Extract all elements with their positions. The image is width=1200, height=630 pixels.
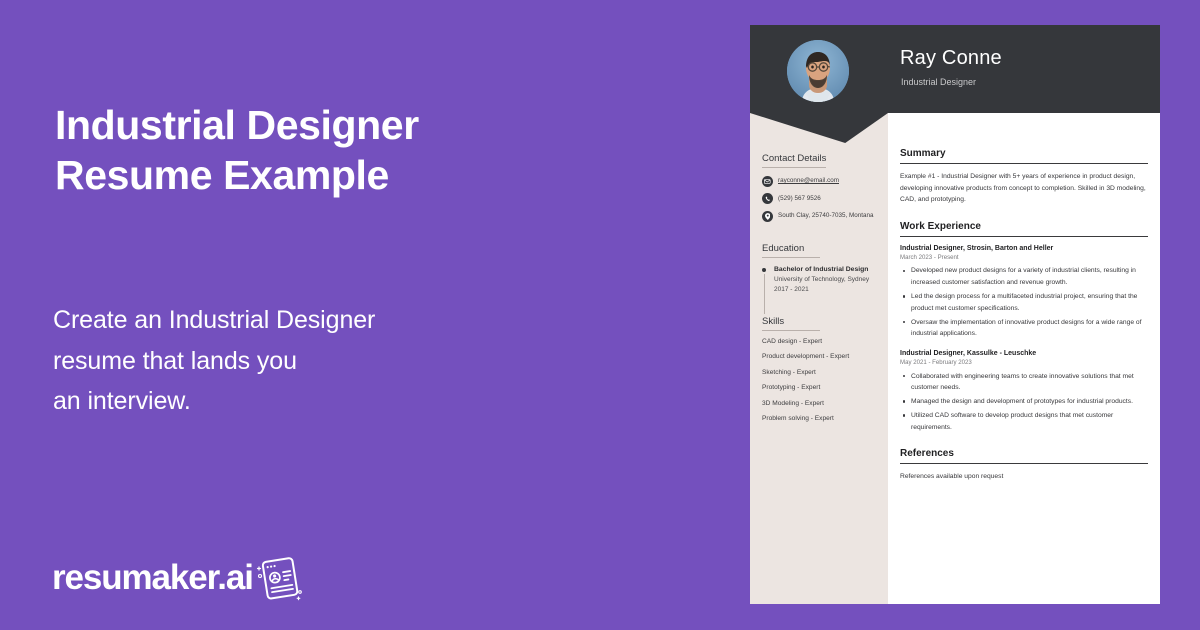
- references-section: References References available upon req…: [900, 448, 1148, 482]
- contact-item-phone: (529) 567 9526: [762, 193, 880, 205]
- job-dates: March 2023 - Present: [900, 253, 1148, 262]
- logo-wordmark: resumaker.ai: [52, 560, 253, 595]
- resume-main-column: Summary Example #1 - Industrial Designer…: [900, 148, 1148, 497]
- envelope-icon: [762, 176, 773, 187]
- resume-document-icon: [251, 550, 307, 606]
- headline-line-1: Industrial Designer: [55, 100, 675, 150]
- education-heading: Education: [762, 243, 820, 258]
- resume-sidebar: Contact Details rayconne@email.com (529)…: [762, 148, 880, 438]
- page-title: Industrial Designer Resume Example: [55, 100, 675, 200]
- contact-address-text: South Clay, 25740-7035, Montana: [778, 210, 873, 221]
- promo-subtitle: Create an Industrial Designer resume tha…: [53, 300, 673, 422]
- job-bullet: Utilized CAD software to develop product…: [900, 410, 1148, 433]
- skill-item: Product development - Expert: [762, 353, 880, 360]
- resumaker-logo[interactable]: resumaker.ai: [52, 548, 307, 606]
- work-experience-entry: Industrial Designer, Strosin, Barton and…: [900, 244, 1148, 340]
- location-pin-icon: [762, 211, 773, 222]
- contact-details-heading: Contact Details: [762, 153, 826, 168]
- promo-panel: Industrial Designer Resume Example Creat…: [0, 0, 750, 630]
- subtitle-line-2: resume that lands you: [53, 341, 673, 382]
- skill-item: Prototyping - Expert: [762, 384, 880, 391]
- education-school: University of Technology, Sydney: [774, 275, 880, 285]
- education-bullet-dot: [762, 268, 766, 272]
- skill-item: CAD design - Expert: [762, 338, 880, 345]
- job-title: Industrial Designer, Kassulke - Leuschke: [900, 349, 1148, 359]
- resume-name: Ray Conne: [900, 47, 1002, 70]
- summary-heading: Summary: [900, 148, 1148, 164]
- resume-preview-card[interactable]: Ray Conne Industrial Designer Contact De…: [750, 25, 1160, 604]
- avatar: [787, 40, 849, 102]
- subtitle-line-1: Create an Industrial Designer: [53, 300, 673, 341]
- job-bullet: Collaborated with engineering teams to c…: [900, 371, 1148, 394]
- job-bullet-list: Developed new product designs for a vari…: [900, 265, 1148, 339]
- contact-email-text[interactable]: rayconne@email.com: [778, 175, 839, 186]
- skill-item: Sketching - Expert: [762, 369, 880, 376]
- contact-phone-text: (529) 567 9526: [778, 193, 821, 204]
- job-bullet-list: Collaborated with engineering teams to c…: [900, 371, 1148, 434]
- work-experience-heading: Work Experience: [900, 221, 1148, 237]
- education-section: Education Bachelor of Industrial Design …: [762, 238, 880, 295]
- job-bullet: Led the design process for a multifacete…: [900, 291, 1148, 314]
- job-bullet: Oversaw the implementation of innovative…: [900, 317, 1148, 340]
- contact-item-email[interactable]: rayconne@email.com: [762, 175, 880, 187]
- skill-item: 3D Modeling - Expert: [762, 400, 880, 407]
- phone-icon: [762, 193, 773, 204]
- references-heading: References: [900, 448, 1148, 464]
- skills-section: Skills CAD design - Expert Product devel…: [762, 311, 880, 423]
- subtitle-line-3: an interview.: [53, 381, 673, 422]
- resume-job-title: Industrial Designer: [901, 77, 976, 87]
- skills-heading: Skills: [762, 316, 820, 331]
- work-experience-section: Work Experience Industrial Designer, Str…: [900, 221, 1148, 434]
- headline-line-2: Resume Example: [55, 150, 675, 200]
- work-experience-entry: Industrial Designer, Kassulke - Leuschke…: [900, 349, 1148, 434]
- job-dates: May 2021 - February 2023: [900, 358, 1148, 367]
- job-bullet: Developed new product designs for a vari…: [900, 265, 1148, 288]
- education-degree: Bachelor of Industrial Design: [774, 265, 880, 275]
- references-text: References available upon request: [900, 471, 1148, 482]
- job-bullet: Managed the design and development of pr…: [900, 396, 1148, 408]
- contact-details-section: Contact Details rayconne@email.com (529)…: [762, 148, 880, 222]
- education-dates: 2017 - 2021: [774, 285, 880, 295]
- education-item: Bachelor of Industrial Design University…: [762, 265, 880, 295]
- skill-item: Problem solving - Expert: [762, 415, 880, 422]
- job-title: Industrial Designer, Strosin, Barton and…: [900, 244, 1148, 254]
- summary-text: Example #1 - Industrial Designer with 5+…: [900, 171, 1148, 206]
- contact-item-address: South Clay, 25740-7035, Montana: [762, 210, 880, 222]
- education-timeline-line: [764, 274, 765, 314]
- summary-section: Summary Example #1 - Industrial Designer…: [900, 148, 1148, 206]
